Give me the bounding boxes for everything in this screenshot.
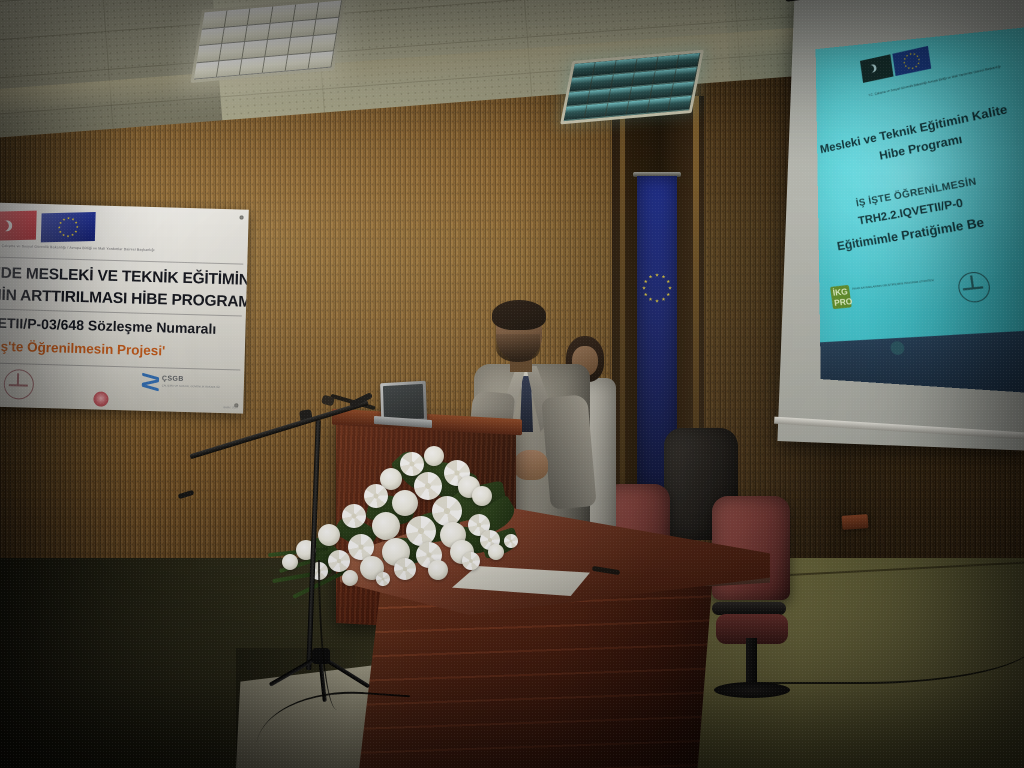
wall-banner: T.C. Çalışma ve Sosyal Güvenlik Bakanlığ…	[0, 202, 249, 413]
flower-bloom	[376, 572, 390, 586]
flower-bloom	[424, 446, 444, 466]
presenter-beard	[496, 334, 540, 362]
presenter-hair	[492, 300, 546, 330]
ikg-pro-mark: İKGPRO	[830, 285, 852, 309]
eu-star-icon	[644, 293, 648, 297]
eu-star-icon	[644, 280, 648, 284]
louvre-cell	[309, 51, 335, 70]
louvre-cell	[217, 59, 243, 78]
eu-star-icon	[903, 61, 906, 64]
eu-star-icon	[918, 58, 921, 61]
flower-bloom	[414, 472, 442, 500]
flower-bloom	[462, 552, 480, 570]
eu-star-icon	[666, 280, 670, 284]
eu-star-icon	[917, 62, 920, 65]
flower-bloom	[392, 490, 418, 516]
flower-bloom	[342, 504, 366, 528]
ceiling-left-shadow	[0, 0, 222, 139]
eu-star-icon	[668, 286, 672, 290]
ceiling-light-right	[560, 50, 704, 125]
eu-star-icon	[662, 275, 666, 279]
louvre-cell	[263, 55, 289, 74]
louvre-cell	[240, 57, 266, 76]
eu-star-icon	[915, 65, 918, 68]
eu-star-icon	[666, 293, 670, 297]
louvre-cell	[668, 96, 692, 112]
flower-bloom	[504, 534, 518, 548]
eu-star-icon	[909, 52, 912, 55]
eu-star-icon	[649, 297, 653, 301]
eu-star-icon	[916, 55, 919, 58]
wall-socket	[842, 514, 869, 530]
eu-star-icon	[903, 57, 906, 60]
conference-hall-photo: T.C. Çalışma ve Sosyal Güvenlik Bakanlığ…	[0, 0, 1024, 768]
flower-bloom	[372, 512, 400, 540]
chair-post	[746, 638, 757, 686]
projection-screen: T.C. Çalışma ve Sosyal Güvenlik Bakanlığ…	[777, 0, 1024, 451]
laptop-screen	[383, 384, 424, 419]
eu-star-icon	[642, 286, 646, 290]
eu-star-icon	[906, 54, 909, 57]
eu-star-icon	[913, 53, 916, 56]
louvre-cell	[194, 61, 220, 80]
chair-base	[714, 682, 790, 698]
flower-bloom	[364, 484, 388, 508]
flower-bloom	[282, 554, 298, 570]
eu-star-icon	[662, 297, 666, 301]
ceiling-light-left	[190, 0, 345, 83]
flower-bloom	[400, 452, 424, 476]
banner-glare	[0, 202, 249, 413]
presenter-arm-right	[541, 394, 597, 510]
projected-slide: T.C. Çalışma ve Sosyal Güvenlik Bakanlığ…	[816, 21, 1024, 397]
louvre-grid	[194, 0, 342, 79]
flower-bloom	[488, 544, 504, 560]
flower-bloom	[432, 496, 462, 526]
eu-star-icon	[655, 273, 659, 277]
eu-star-icon	[655, 299, 659, 303]
eu-star-icon	[649, 275, 653, 279]
eu-star-circle	[637, 248, 677, 328]
flower-bloom	[394, 558, 416, 580]
eu-star-icon	[911, 67, 914, 70]
flower-bloom	[428, 560, 448, 580]
louvre-grid	[564, 53, 701, 121]
flower-bloom	[318, 524, 340, 546]
eu-star-icon	[904, 65, 907, 68]
eu-star-icon	[907, 67, 910, 70]
louvre-cell	[286, 53, 312, 72]
slide-footer-icon-1	[890, 341, 904, 355]
flower-bloom	[472, 486, 492, 506]
